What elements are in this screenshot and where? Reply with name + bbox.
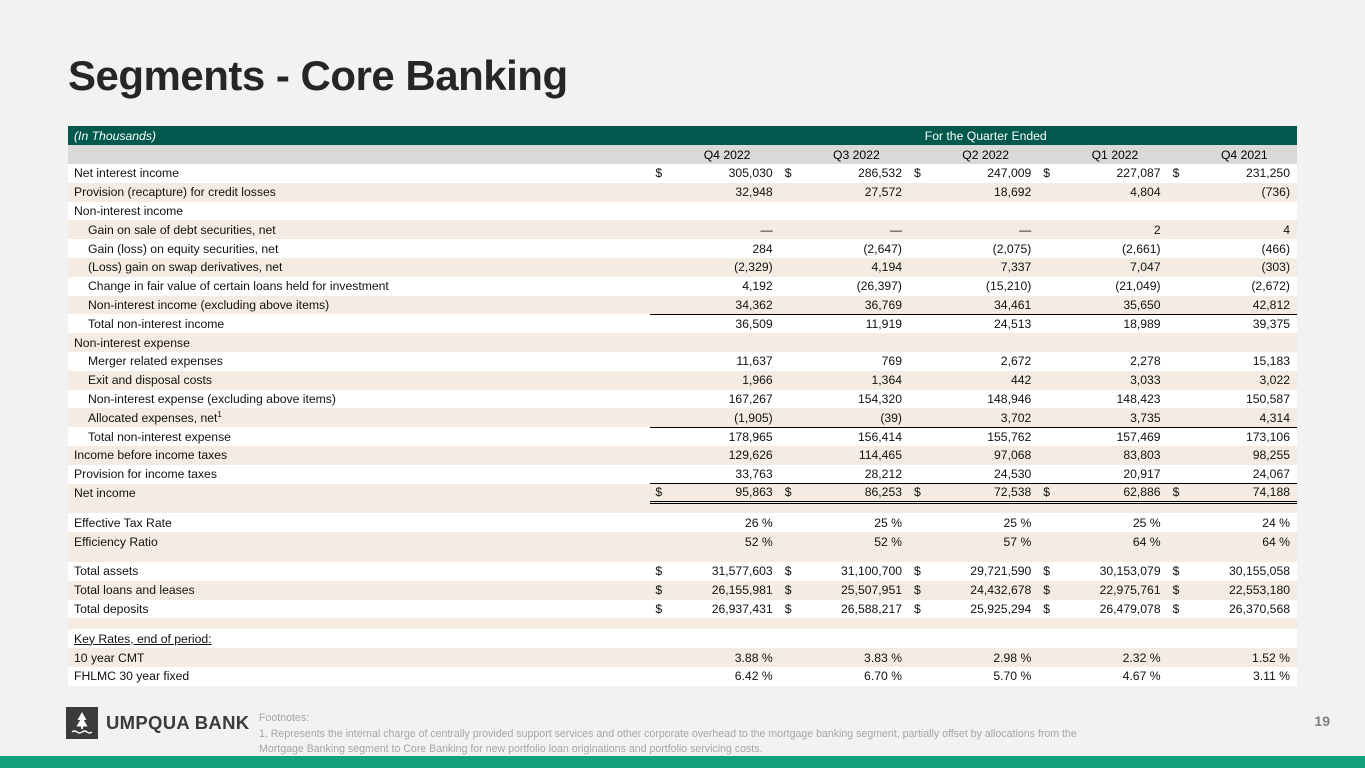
slide-root: Segments - Core Banking (In Thousands) F… <box>0 0 1365 768</box>
currency-symbol-cell <box>1038 239 1062 258</box>
currency-symbol-cell <box>1168 648 1192 667</box>
currency-symbol-cell <box>1038 532 1062 551</box>
table-cell-value: 34,362 <box>674 296 779 315</box>
currency-symbol-cell <box>909 390 933 409</box>
column-header-q4-2021: Q4 2021 <box>1192 145 1297 164</box>
table-row: Non-interest expense <box>68 333 1297 352</box>
table-cell-value <box>674 629 779 648</box>
currency-symbol-cell: $ <box>650 581 674 600</box>
currency-symbol-cell <box>1038 629 1062 648</box>
subheader-cur-1 <box>780 145 804 164</box>
currency-symbol-cell <box>650 667 674 686</box>
page-number: 19 <box>1314 713 1330 729</box>
currency-symbol-cell <box>909 648 933 667</box>
table-header: (In Thousands) For the Quarter Ended Q4 … <box>68 126 1297 164</box>
table-cell-value: 227,087 <box>1062 164 1167 183</box>
table-cell-value: 6.70 % <box>804 667 909 686</box>
table-cell-value: 7,337 <box>933 258 1038 277</box>
currency-symbol-cell: $ <box>1168 562 1192 581</box>
table-row: Change in fair value of certain loans he… <box>68 277 1297 296</box>
currency-symbol-cell <box>1168 239 1192 258</box>
table-cell-value: 24,530 <box>933 465 1038 484</box>
currency-symbol-cell <box>650 202 674 221</box>
currency-symbol-cell <box>1038 202 1062 221</box>
currency-symbol-cell: $ <box>1038 581 1062 600</box>
row-label: Non-interest expense <box>68 333 650 352</box>
table-cell-value: 167,267 <box>674 390 779 409</box>
table-cell-value: 26,370,568 <box>1192 600 1297 619</box>
table-cell-value: 18,989 <box>1062 314 1167 333</box>
table-cell-value: 1,966 <box>674 371 779 390</box>
currency-symbol-cell <box>1168 314 1192 333</box>
currency-symbol-cell: $ <box>1168 484 1192 503</box>
table-cell-value: 4,194 <box>804 258 909 277</box>
currency-symbol-cell <box>909 513 933 532</box>
currency-symbol-cell <box>909 239 933 258</box>
currency-symbol-cell <box>650 333 674 352</box>
currency-symbol-cell <box>780 408 804 427</box>
table-row: Efficiency Ratio52 %52 %57 %64 %64 % <box>68 532 1297 551</box>
table-cell-value <box>933 202 1038 221</box>
group-header-label: For the Quarter Ended <box>674 126 1297 145</box>
table-cell-value: 22,975,761 <box>1062 581 1167 600</box>
table-cell-value: 7,047 <box>1062 258 1167 277</box>
row-label: Total non-interest expense <box>68 427 650 446</box>
bottom-accent-bar <box>0 756 1365 768</box>
table-cell-value: 28,212 <box>804 465 909 484</box>
row-label: Non-interest income <box>68 202 650 221</box>
currency-symbol-cell <box>780 446 804 465</box>
table-cell-value: 305,030 <box>674 164 779 183</box>
currency-symbol-cell <box>1038 667 1062 686</box>
table-cell-value <box>804 202 909 221</box>
currency-symbol-cell <box>780 352 804 371</box>
table-cell-value: 173,106 <box>1192 427 1297 446</box>
table-row: Non-interest expense (excluding above it… <box>68 390 1297 409</box>
table-cell-value: 36,769 <box>804 296 909 315</box>
table-row: Total loans and leases$26,155,981$25,507… <box>68 581 1297 600</box>
table-cell-value: 18,692 <box>933 183 1038 202</box>
table-cell-value: (15,210) <box>933 277 1038 296</box>
currency-symbol-cell <box>1038 648 1062 667</box>
table-cell-value: 114,465 <box>804 446 909 465</box>
row-label: Income before income taxes <box>68 446 650 465</box>
table-row: Allocated expenses, net1(1,905)(39)3,702… <box>68 408 1297 427</box>
table-cell-value: 154,320 <box>804 390 909 409</box>
table-cell-value <box>933 333 1038 352</box>
table-cell-value: 178,965 <box>674 427 779 446</box>
table-cell-value: 11,919 <box>804 314 909 333</box>
row-label: FHLMC 30 year fixed <box>68 667 650 686</box>
table-cell-value <box>674 202 779 221</box>
currency-symbol-cell <box>1168 629 1192 648</box>
currency-symbol-cell: $ <box>650 484 674 503</box>
currency-symbol-cell <box>780 513 804 532</box>
currency-symbol-cell <box>909 258 933 277</box>
table-row: Provision (recapture) for credit losses3… <box>68 183 1297 202</box>
table-cell-value: 26,479,078 <box>1062 600 1167 619</box>
currency-symbol-cell <box>650 239 674 258</box>
financial-table: (In Thousands) For the Quarter Ended Q4 … <box>68 126 1297 686</box>
currency-symbol-cell <box>780 296 804 315</box>
table-cell-value: 64 % <box>1062 532 1167 551</box>
table-subheader-row: Q4 2022 Q3 2022 Q2 2022 Q1 2022 Q4 2021 <box>68 145 1297 164</box>
table-cell-value: 35,650 <box>1062 296 1167 315</box>
table-cell-value: (466) <box>1192 239 1297 258</box>
table-cell-value: 26,155,981 <box>674 581 779 600</box>
table-cell-value: 30,153,079 <box>1062 562 1167 581</box>
table-cell-value: 24,067 <box>1192 465 1297 484</box>
currency-symbol-cell <box>780 258 804 277</box>
table-cell-value: 26,937,431 <box>674 600 779 619</box>
table-cell-value: 148,423 <box>1062 390 1167 409</box>
currency-symbol-cell <box>1038 408 1062 427</box>
currency-symbol-cell <box>909 202 933 221</box>
currency-symbol-cell: $ <box>780 164 804 183</box>
currency-symbol-cell <box>909 629 933 648</box>
units-label: (In Thousands) <box>68 126 650 145</box>
currency-symbol-cell <box>909 352 933 371</box>
currency-symbol-cell: $ <box>1038 484 1062 503</box>
table-cell-value: 72,538 <box>933 484 1038 503</box>
table-cell-value: 442 <box>933 371 1038 390</box>
table-cell-value: 3,735 <box>1062 408 1167 427</box>
table-row: Net interest income$305,030$286,532$247,… <box>68 164 1297 183</box>
row-label: Exit and disposal costs <box>68 371 650 390</box>
currency-symbol-cell: $ <box>650 600 674 619</box>
currency-symbol-cell <box>650 371 674 390</box>
table-row: (Loss) gain on swap derivatives, net(2,3… <box>68 258 1297 277</box>
currency-symbol-cell: $ <box>780 562 804 581</box>
table-spacer-row <box>68 551 1297 562</box>
currency-symbol-cell <box>1168 296 1192 315</box>
currency-symbol-cell <box>780 202 804 221</box>
currency-symbol-cell <box>780 333 804 352</box>
table-cell-value: 22,553,180 <box>1192 581 1297 600</box>
currency-symbol-cell: $ <box>1038 562 1062 581</box>
table-cell-value: (736) <box>1192 183 1297 202</box>
table-row: Non-interest income <box>68 202 1297 221</box>
table-cell-value: 24 % <box>1192 513 1297 532</box>
table-cell-value: 25,925,294 <box>933 600 1038 619</box>
column-header-q3-2022: Q3 2022 <box>804 145 909 164</box>
currency-symbol-cell: $ <box>909 484 933 503</box>
currency-symbol-cell <box>1168 408 1192 427</box>
currency-symbol-cell <box>909 532 933 551</box>
table-cell-value: 32,948 <box>674 183 779 202</box>
currency-symbol-cell <box>650 220 674 239</box>
table-row: Provision for income taxes33,76328,21224… <box>68 465 1297 484</box>
spacer-cell <box>68 618 1297 629</box>
brand-name: UMPQUA BANK <box>106 712 249 734</box>
table-cell-value: 26,588,217 <box>804 600 909 619</box>
currency-symbol-cell <box>1168 667 1192 686</box>
row-label: Total assets <box>68 562 650 581</box>
row-label: Net income <box>68 484 650 503</box>
currency-symbol-cell <box>909 333 933 352</box>
row-label: 10 year CMT <box>68 648 650 667</box>
table-cell-value: 4,192 <box>674 277 779 296</box>
row-label: Non-interest income (excluding above ite… <box>68 296 650 315</box>
table-row: Income before income taxes129,626114,465… <box>68 446 1297 465</box>
table-cell-value: 64 % <box>1192 532 1297 551</box>
page-title: Segments - Core Banking <box>68 52 568 100</box>
currency-symbol-cell <box>650 390 674 409</box>
umpqua-tree-logo-icon <box>66 707 98 739</box>
table-cell-value: 3,702 <box>933 408 1038 427</box>
table-cell-value: 52 % <box>674 532 779 551</box>
table-cell-value: 4,314 <box>1192 408 1297 427</box>
table-cell-value: 26 % <box>674 513 779 532</box>
table-cell-value: 52 % <box>804 532 909 551</box>
table-cell-value: 33,763 <box>674 465 779 484</box>
table-cell-value: 4,804 <box>1062 183 1167 202</box>
subheader-cur-0 <box>650 145 674 164</box>
table-row: 10 year CMT3.88 %3.83 %2.98 %2.32 %1.52 … <box>68 648 1297 667</box>
row-label: Total non-interest income <box>68 314 650 333</box>
table-cell-value: (26,397) <box>804 277 909 296</box>
table-cell-value <box>1062 629 1167 648</box>
table-cell-value: 57 % <box>933 532 1038 551</box>
table-cell-value: 157,469 <box>1062 427 1167 446</box>
table-cell-value: 3.11 % <box>1192 667 1297 686</box>
table-cell-value <box>1192 629 1297 648</box>
currency-symbol-cell <box>909 408 933 427</box>
table-cell-value: 83,803 <box>1062 446 1167 465</box>
row-label: Net interest income <box>68 164 650 183</box>
column-header-q2-2022: Q2 2022 <box>933 145 1038 164</box>
currency-symbol-cell <box>1038 446 1062 465</box>
currency-symbol-cell <box>650 352 674 371</box>
currency-symbol-cell <box>1168 390 1192 409</box>
financial-table-container: (In Thousands) For the Quarter Ended Q4 … <box>68 126 1297 686</box>
table-cell-value: — <box>933 220 1038 239</box>
table-cell-value: 2,672 <box>933 352 1038 371</box>
table-cell-value <box>1192 202 1297 221</box>
footnote-1-line-1: 1. Represents the internal charge of cen… <box>259 727 1269 743</box>
currency-symbol-cell <box>650 465 674 484</box>
table-row: Gain on sale of debt securities, net———2… <box>68 220 1297 239</box>
currency-symbol-cell <box>1038 258 1062 277</box>
table-cell-value: 3,033 <box>1062 371 1167 390</box>
table-cell-value: 95,863 <box>674 484 779 503</box>
table-cell-value: 286,532 <box>804 164 909 183</box>
table-cell-value: 24,432,678 <box>933 581 1038 600</box>
table-cell-value: 156,414 <box>804 427 909 446</box>
currency-symbol-cell <box>1168 513 1192 532</box>
table-cell-value: 74,188 <box>1192 484 1297 503</box>
currency-symbol-cell <box>909 446 933 465</box>
currency-symbol-cell: $ <box>1038 600 1062 619</box>
table-row: Total non-interest income36,50911,91924,… <box>68 314 1297 333</box>
currency-symbol-cell <box>650 258 674 277</box>
table-cell-value <box>804 629 909 648</box>
currency-symbol-cell <box>780 648 804 667</box>
currency-symbol-cell: $ <box>1038 164 1062 183</box>
table-cell-value: 150,587 <box>1192 390 1297 409</box>
table-cell-value <box>804 333 909 352</box>
currency-symbol-cell <box>909 220 933 239</box>
table-cell-value: — <box>674 220 779 239</box>
table-cell-value: 39,375 <box>1192 314 1297 333</box>
row-label: Efficiency Ratio <box>68 532 650 551</box>
currency-symbol-cell <box>909 465 933 484</box>
table-cell-value: 29,721,590 <box>933 562 1038 581</box>
currency-symbol-cell <box>1038 314 1062 333</box>
row-label: Key Rates, end of period: <box>68 629 650 648</box>
row-label: Merger related expenses <box>68 352 650 371</box>
row-label: Provision (recapture) for credit losses <box>68 183 650 202</box>
currency-symbol-cell: $ <box>780 600 804 619</box>
table-cell-value: (2,075) <box>933 239 1038 258</box>
currency-symbol-cell <box>1168 465 1192 484</box>
table-cell-value: 20,917 <box>1062 465 1167 484</box>
currency-symbol-cell <box>650 183 674 202</box>
table-cell-value: 4.67 % <box>1062 667 1167 686</box>
table-cell-value: 34,461 <box>933 296 1038 315</box>
footnote-marker: 1 <box>217 410 221 419</box>
currency-symbol-cell <box>1038 465 1062 484</box>
table-row: Total deposits$26,937,431$26,588,217$25,… <box>68 600 1297 619</box>
currency-symbol-cell <box>909 371 933 390</box>
table-cell-value: 15,183 <box>1192 352 1297 371</box>
currency-symbol-cell <box>1038 371 1062 390</box>
currency-symbol-cell <box>780 629 804 648</box>
table-cell-value: 4 <box>1192 220 1297 239</box>
currency-symbol-cell <box>650 277 674 296</box>
currency-symbol-cell <box>780 465 804 484</box>
currency-symbol-cell <box>1038 296 1062 315</box>
currency-symbol-cell <box>650 629 674 648</box>
table-spacer-row <box>68 502 1297 513</box>
table-cell-value: 284 <box>674 239 779 258</box>
table-cell-value: (2,661) <box>1062 239 1167 258</box>
row-label: Change in fair value of certain loans he… <box>68 277 650 296</box>
row-label: Effective Tax Rate <box>68 513 650 532</box>
row-label: Gain on sale of debt securities, net <box>68 220 650 239</box>
table-cell-value: 98,255 <box>1192 446 1297 465</box>
table-cell-value: 3.88 % <box>674 648 779 667</box>
subheader-cur-2 <box>909 145 933 164</box>
currency-symbol-cell <box>1038 183 1062 202</box>
spacer-cell <box>68 551 1297 562</box>
currency-symbol-cell: $ <box>909 562 933 581</box>
table-cell-value: 25 % <box>804 513 909 532</box>
subheader-cur-4 <box>1168 145 1192 164</box>
table-cell-value <box>1062 333 1167 352</box>
subheader-blank <box>68 145 650 164</box>
table-cell-value: (39) <box>804 408 909 427</box>
currency-symbol-cell <box>780 532 804 551</box>
table-cell-value: 31,100,700 <box>804 562 909 581</box>
table-cell-value: 5.70 % <box>933 667 1038 686</box>
table-cell-value: 25,507,951 <box>804 581 909 600</box>
currency-symbol-cell: $ <box>1168 581 1192 600</box>
currency-symbol-cell <box>650 314 674 333</box>
currency-symbol-cell <box>780 277 804 296</box>
currency-symbol-cell <box>1168 427 1192 446</box>
table-cell-value: 129,626 <box>674 446 779 465</box>
table-cell-value: (2,647) <box>804 239 909 258</box>
table-cell-value: 31,577,603 <box>674 562 779 581</box>
table-row: Non-interest income (excluding above ite… <box>68 296 1297 315</box>
currency-symbol-cell <box>650 446 674 465</box>
table-cell-value: 769 <box>804 352 909 371</box>
currency-symbol-cell: $ <box>1168 600 1192 619</box>
row-label: Gain (loss) on equity securities, net <box>68 239 650 258</box>
currency-symbol-cell <box>1038 427 1062 446</box>
currency-symbol-cell <box>650 427 674 446</box>
table-cell-value <box>674 333 779 352</box>
currency-symbol-cell <box>1168 352 1192 371</box>
currency-symbol-cell <box>650 513 674 532</box>
table-cell-value: 1,364 <box>804 371 909 390</box>
currency-symbol-cell: $ <box>909 600 933 619</box>
currency-symbol-cell <box>909 183 933 202</box>
currency-symbol-cell <box>1038 333 1062 352</box>
subheader-cur-3 <box>1038 145 1062 164</box>
currency-symbol-cell <box>909 667 933 686</box>
table-cell-value: (2,329) <box>674 258 779 277</box>
table-cell-value: 231,250 <box>1192 164 1297 183</box>
currency-symbol-cell <box>780 390 804 409</box>
currency-symbol-cell <box>1168 183 1192 202</box>
currency-symbol-cell <box>1168 446 1192 465</box>
table-cell-value: 2,278 <box>1062 352 1167 371</box>
table-cell-value: (1,905) <box>674 408 779 427</box>
currency-symbol-cell <box>650 648 674 667</box>
currency-symbol-cell <box>1168 371 1192 390</box>
spacer-cell <box>68 502 1297 513</box>
currency-symbol-cell <box>780 427 804 446</box>
currency-symbol-cell <box>780 314 804 333</box>
table-cell-value: 3.83 % <box>804 648 909 667</box>
table-cell-value <box>933 629 1038 648</box>
table-cell-value: 155,762 <box>933 427 1038 446</box>
currency-symbol-cell: $ <box>909 164 933 183</box>
row-label: Total deposits <box>68 600 650 619</box>
currency-symbol-cell <box>780 239 804 258</box>
currency-symbol-cell <box>909 314 933 333</box>
table-row: Total assets$31,577,603$31,100,700$29,72… <box>68 562 1297 581</box>
table-cell-value: 247,009 <box>933 164 1038 183</box>
table-cell-value: 42,812 <box>1192 296 1297 315</box>
table-cell-value: 86,253 <box>804 484 909 503</box>
currency-symbol-cell: $ <box>780 484 804 503</box>
currency-symbol-cell <box>1038 277 1062 296</box>
currency-symbol-cell: $ <box>650 164 674 183</box>
band-spacer <box>650 126 674 145</box>
table-cell-value: 62,886 <box>1062 484 1167 503</box>
currency-symbol-cell: $ <box>1168 164 1192 183</box>
table-row: Key Rates, end of period: <box>68 629 1297 648</box>
table-cell-value: — <box>804 220 909 239</box>
table-cell-value: 2 <box>1062 220 1167 239</box>
table-row: Gain (loss) on equity securities, net284… <box>68 239 1297 258</box>
currency-symbol-cell <box>780 220 804 239</box>
brand-logo: UMPQUA BANK <box>66 707 249 739</box>
table-cell-value: 148,946 <box>933 390 1038 409</box>
table-cell-value: 24,513 <box>933 314 1038 333</box>
currency-symbol-cell <box>780 183 804 202</box>
table-cell-value <box>1062 202 1167 221</box>
currency-symbol-cell <box>1038 352 1062 371</box>
table-row: Merger related expenses11,6377692,6722,2… <box>68 352 1297 371</box>
table-cell-value: 25 % <box>1062 513 1167 532</box>
table-row: Effective Tax Rate26 %25 %25 %25 %24 % <box>68 513 1297 532</box>
currency-symbol-cell <box>1038 220 1062 239</box>
currency-symbol-cell: $ <box>909 581 933 600</box>
